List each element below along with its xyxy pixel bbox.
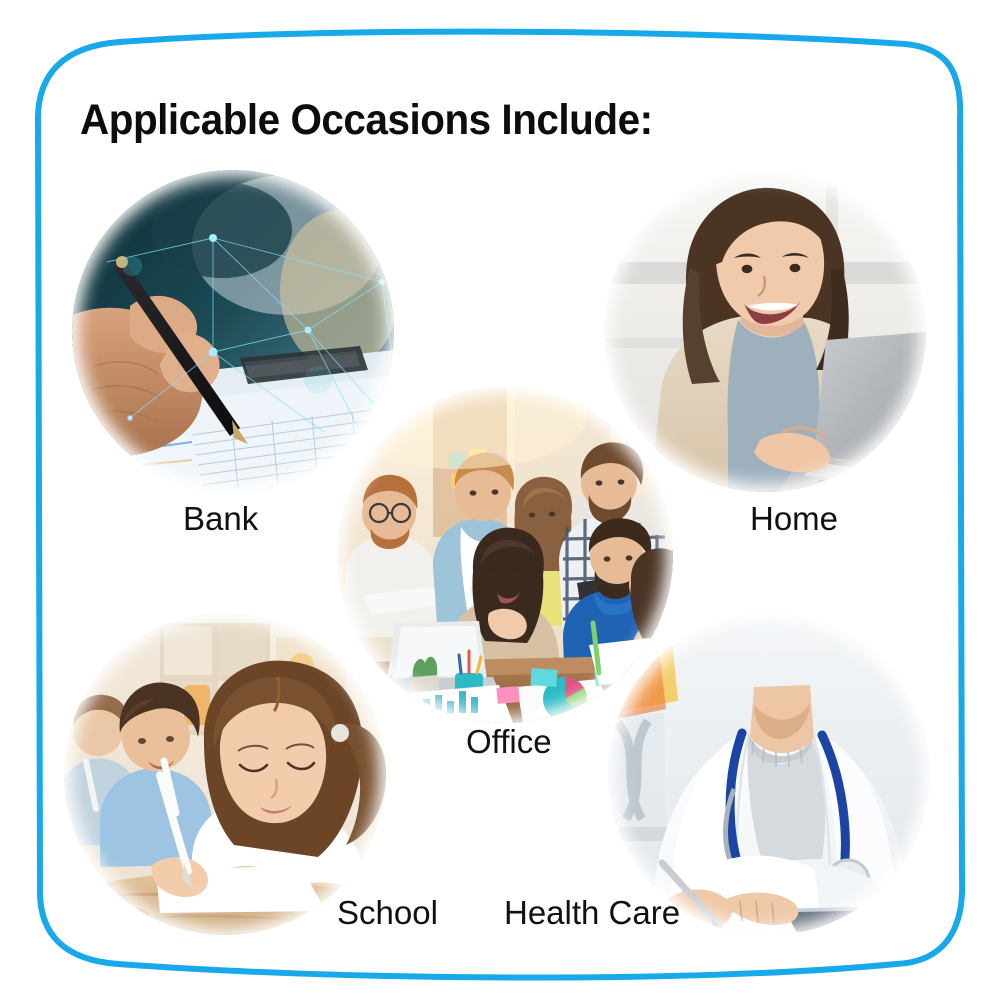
office-scene-illustration xyxy=(337,387,673,723)
occasion-image-office xyxy=(337,387,673,723)
occasion-label-school: School xyxy=(337,894,438,932)
occasion-image-health xyxy=(608,613,930,935)
page-title: Applicable Occasions Include: xyxy=(80,96,653,145)
occasion-image-home xyxy=(604,170,926,492)
bank-scene-illustration xyxy=(72,170,394,492)
occasion-label-bank: Bank xyxy=(183,500,258,538)
occasion-image-school xyxy=(64,613,386,935)
occasion-label-office: Office xyxy=(466,723,552,761)
home-scene-illustration xyxy=(604,170,926,492)
occasion-label-health: Health Care xyxy=(504,894,680,932)
school-scene-illustration xyxy=(64,613,386,935)
occasion-label-home: Home xyxy=(750,500,838,538)
health-scene-illustration xyxy=(608,613,930,935)
occasion-image-bank xyxy=(72,170,394,492)
poster-canvas: Applicable Occasions Include: xyxy=(0,0,1000,1000)
